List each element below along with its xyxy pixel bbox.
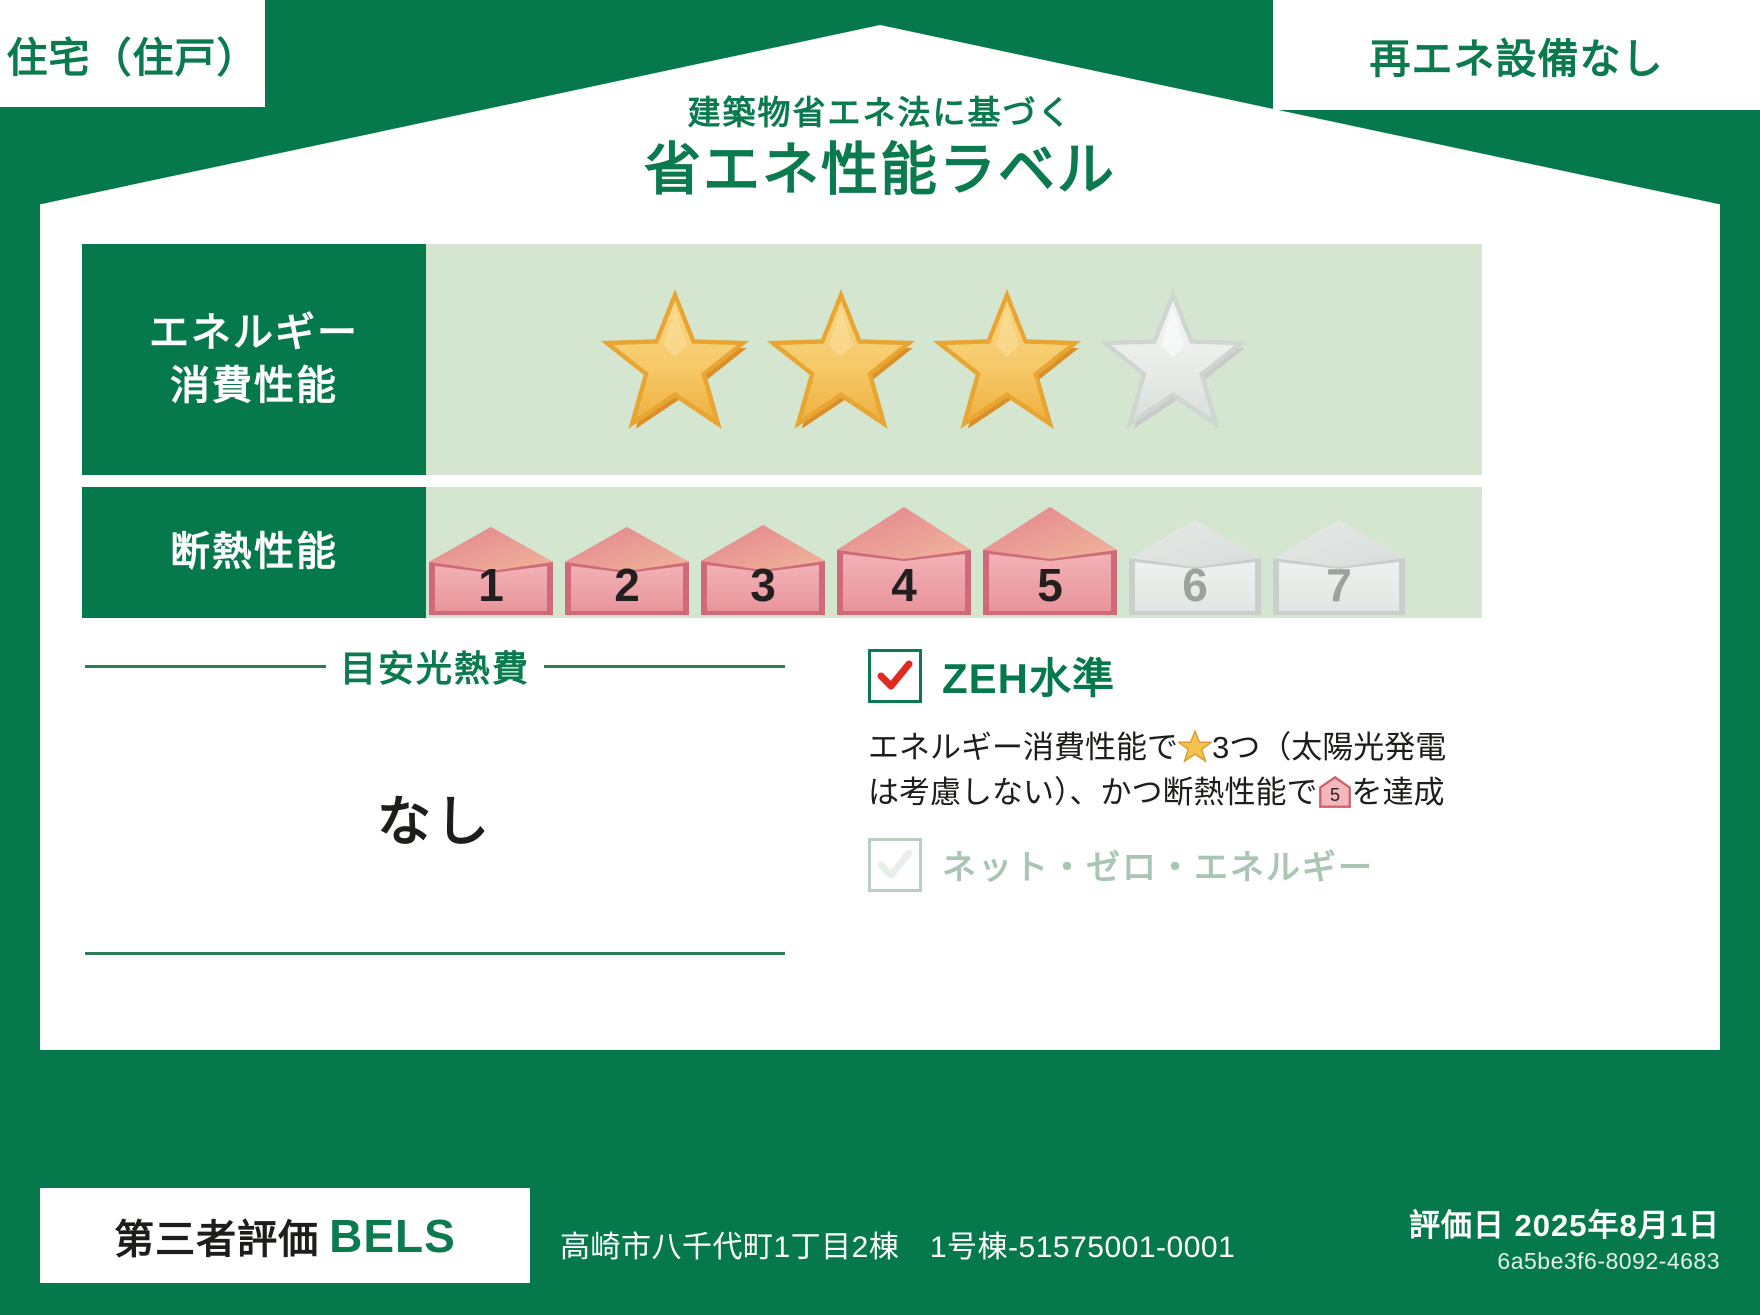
insulation-performance-body: 1234567 (426, 487, 1482, 618)
insulation-performance-label: 断熱性能 (82, 487, 426, 618)
bels-label-root: 住宅（住戸） 再エネ設備なし 建築物省エネ法に基づく 省エネ性能ラベル エネルギ… (0, 0, 1760, 1315)
inline-grade-badge-icon: 5 (1318, 775, 1352, 809)
zeh-standard-label: ZEH水準 (942, 645, 1115, 706)
insulation-grade-number: 4 (834, 558, 974, 612)
rule-right (544, 665, 785, 668)
star-empty-icon (1099, 289, 1247, 431)
star-filled-icon (601, 289, 749, 431)
insulation-label-text: 断熱性能 (170, 526, 338, 579)
energy-performance-body (426, 244, 1482, 475)
zeh-section: ZEH水準 エネルギー消費性能で 3つ（太陽光発電 は考慮しない）、かつ断熱性能… (868, 645, 1498, 892)
star-filled-icon (767, 289, 915, 431)
insulation-grade-scale: 1234567 (426, 487, 1408, 618)
star-rating (426, 289, 1247, 431)
insulation-grade-number: 1 (426, 558, 556, 612)
evaluation-date: 評価日 2025年8月1日 (1409, 1200, 1720, 1245)
zeh-desc-line1-b: 3つ（太陽光発電 (1212, 730, 1446, 765)
insulation-grade-number: 7 (1270, 558, 1408, 612)
insulation-grade-badge: 1 (426, 525, 556, 618)
dwelling-type-tag: 住宅（住戸） (0, 0, 265, 107)
checkbox-unchecked-icon (868, 838, 922, 892)
utility-cost-bottom-rule (85, 952, 785, 955)
zeh-desc-line2-b: を達成 (1352, 775, 1445, 810)
inline-grade-number: 5 (1329, 785, 1339, 805)
document-id: 6a5be3f6-8092-4683 (1497, 1248, 1720, 1275)
zeh-standard-row: ZEH水準 (868, 645, 1498, 706)
star-filled-icon (933, 289, 1081, 431)
insulation-grade-number: 2 (562, 558, 692, 612)
net-zero-energy-label: ネット・ゼロ・エネルギー (942, 840, 1374, 889)
net-zero-energy-row: ネット・ゼロ・エネルギー (868, 838, 1498, 892)
inline-star-icon (1178, 730, 1212, 762)
energy-label-line2: 消費性能 (170, 360, 338, 413)
utility-cost-title: 目安光熱費 (340, 640, 530, 692)
utility-cost-header: 目安光熱費 (85, 640, 785, 692)
insulation-grade-badge: 2 (562, 525, 692, 618)
energy-label-line1: エネルギー (149, 307, 359, 360)
third-party-eval-text: 第三者評価 (114, 1207, 319, 1265)
energy-performance-label: エネルギー 消費性能 (82, 244, 426, 475)
zeh-desc-line2-a: は考慮しない）、かつ断熱性能で (868, 775, 1318, 810)
insulation-grade-number: 6 (1126, 558, 1264, 612)
insulation-grade-badge: 5 (980, 505, 1120, 618)
bels-wordmark: BELS (329, 1209, 456, 1263)
insulation-grade-number: 3 (698, 558, 828, 612)
utility-cost-section: 目安光熱費 なし (85, 640, 785, 856)
label-subtitle: 建築物省エネ法に基づく (0, 95, 1760, 131)
insulation-performance-row: 断熱性能 1234567 (82, 487, 1482, 618)
utility-cost-value: なし (85, 777, 785, 856)
rule-left (85, 665, 326, 668)
page-title: 省エネ性能ラベル (0, 139, 1760, 202)
insulation-grade-badge: 3 (698, 523, 828, 618)
renewable-equipment-tag: 再エネ設備なし (1273, 0, 1760, 110)
checkbox-checked-icon (868, 649, 922, 703)
label-footer: 第三者評価 BELS 高崎市八千代町1丁目2棟 1号棟-51575001-000… (0, 1170, 1760, 1315)
bels-logo-plate: 第三者評価 BELS (40, 1188, 530, 1283)
zeh-desc-line1-a: エネルギー消費性能で (868, 730, 1178, 765)
insulation-grade-badge: 4 (834, 505, 974, 618)
label-title-block: 建築物省エネ法に基づく 省エネ性能ラベル (0, 95, 1760, 202)
insulation-grade-number: 5 (980, 558, 1120, 612)
zeh-description: エネルギー消費性能で 3つ（太陽光発電 は考慮しない）、かつ断熱性能で 5 を達… (868, 726, 1498, 816)
energy-performance-row: エネルギー 消費性能 (82, 244, 1482, 475)
insulation-grade-badge: 7 (1270, 518, 1408, 618)
property-address: 高崎市八千代町1丁目2棟 1号棟-51575001-0001 (560, 1222, 1235, 1266)
insulation-grade-badge: 6 (1126, 518, 1264, 618)
